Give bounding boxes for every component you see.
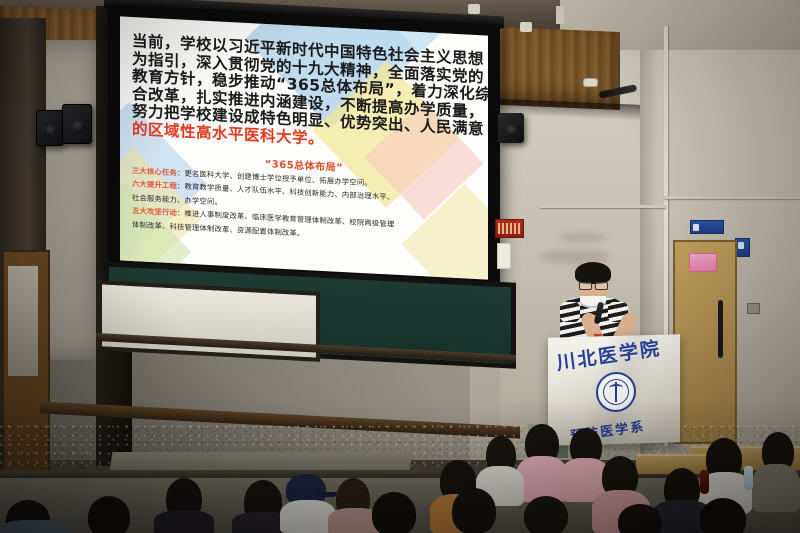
podium-with-banner: 川北医学院 预防医学系 (548, 334, 680, 445)
speaker-cone (45, 124, 56, 134)
glasses-icon (579, 282, 607, 288)
glasses-lens (579, 282, 592, 290)
wall-outlet (747, 303, 760, 314)
wall-speaker-icon-right (498, 113, 524, 143)
microphone-boom (618, 54, 620, 90)
emergency-equipment-sign-blue (735, 238, 750, 257)
wall-speaker-icon-b (62, 104, 92, 144)
audience-head (618, 504, 662, 533)
conduit-pipe-horizontal (540, 205, 666, 208)
thermos-bottle (700, 470, 709, 494)
conduit-pipe-horizontal (664, 196, 800, 199)
presentation-slide: 当前，学校以习近平新时代中国特色社会主义思想 为指引，深入贯彻党的十九大精神，全… (120, 16, 488, 279)
smoke-detector-icon (583, 78, 598, 87)
audience-body (154, 510, 214, 533)
ceiling-lamp-icon (520, 22, 532, 32)
exit-direction-sign-blue (690, 220, 724, 234)
ceiling-mount-rod (556, 6, 564, 24)
water-bottle (744, 466, 753, 490)
presenter-sleeve (560, 302, 580, 322)
door-notice-pink (689, 253, 717, 272)
slide-detail-label: 五大攻坚行动 (132, 206, 177, 217)
emergency-sign-glyph-icon (738, 242, 744, 249)
audience-head (88, 496, 130, 533)
wall-notice-paper (497, 243, 511, 269)
lecture-hall-photo: 当前，学校以习近平新时代中国特色社会主义思想 为指引，深入贯彻党的十九大精神，全… (0, 0, 800, 533)
wall-speaker-icon-a (36, 110, 64, 146)
slide-detail-label: 六大提升工程 (132, 179, 177, 190)
audience-head (372, 492, 416, 533)
slide-detail-label: 三大核心任务 (132, 166, 177, 177)
audience-head (452, 488, 496, 533)
wall-mark (560, 232, 606, 242)
audience-body (752, 464, 800, 512)
projection-screen: 当前，学校以习近平新时代中国特色社会主义思想 为指引，深入贯彻党的十九大精神，全… (108, 4, 500, 293)
slide-detail-text: 社会服务能力、办学空间。 (132, 193, 222, 207)
speaker-cone (506, 124, 517, 133)
glasses-lens (595, 282, 608, 290)
audience-head (700, 498, 746, 533)
speaker-cone (71, 119, 83, 130)
audience-body (0, 520, 70, 533)
presenter-hair (575, 262, 611, 284)
door-handle[interactable] (718, 300, 723, 358)
ceiling-lamp-icon (468, 4, 480, 14)
exit-sign-glyph-icon (693, 224, 699, 231)
slide-content: 当前，学校以习近平新时代中国特色社会主义思想 为指引，深入贯彻党的十九大精神，全… (120, 16, 488, 248)
audience-cap-brim (316, 492, 338, 497)
fire-safety-sign-red (495, 219, 524, 238)
audience-head (524, 496, 568, 533)
left-door-window (8, 266, 38, 376)
sign-red-content (498, 223, 521, 234)
